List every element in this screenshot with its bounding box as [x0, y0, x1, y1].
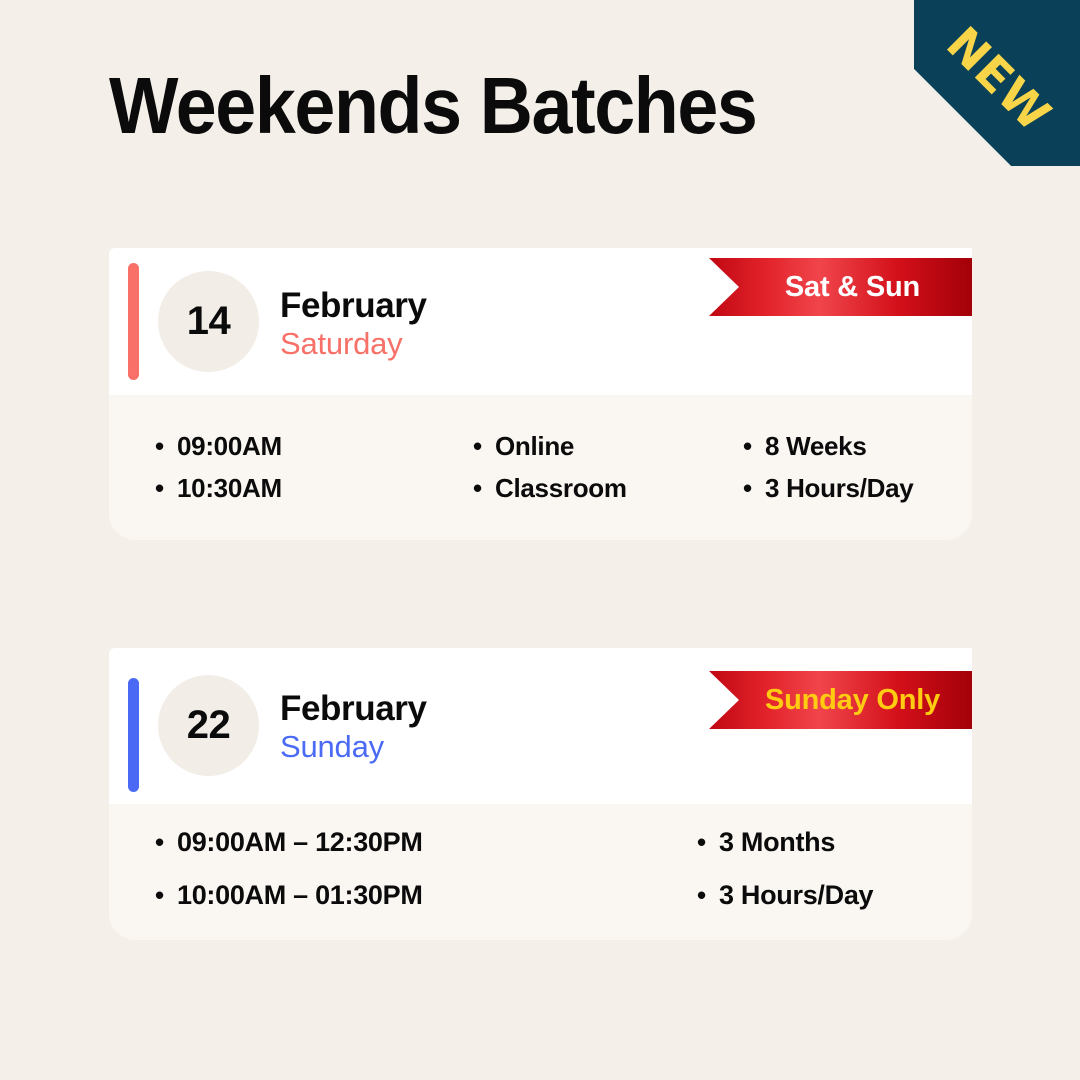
bullet-icon: •: [697, 882, 719, 908]
list-item: • 10:30AM: [155, 475, 449, 501]
batch-card-2-ribbon: Sunday Only: [709, 671, 972, 729]
list-item: • 3 Hours/Day: [743, 475, 972, 501]
batch-card-1-accent-bar: [128, 263, 139, 380]
batch-card-2-date-circle: 22: [158, 675, 259, 776]
list-item-label: 3 Months: [719, 829, 835, 856]
bullet-icon: •: [155, 433, 177, 459]
bullet-icon: •: [743, 433, 765, 459]
batch-card-2-details: • 09:00AM – 12:30PM • 10:00AM – 01:30PM …: [109, 804, 972, 940]
list-item-label: 10:00AM – 01:30PM: [177, 882, 423, 909]
list-item-label: Classroom: [495, 475, 627, 501]
batch-card-1-weekday: Saturday: [280, 326, 427, 362]
batch-card-1-month: February: [280, 286, 427, 326]
list-item: • 3 Hours/Day: [697, 882, 972, 909]
list-item: • Classroom: [473, 475, 719, 501]
batch-card-2-ribbon-label: Sunday Only: [741, 684, 940, 717]
list-item: • 3 Months: [697, 829, 972, 856]
batch-card-2-weekday: Sunday: [280, 729, 427, 765]
batch-card-2[interactable]: 22 February Sunday Sunday Only • 09:00AM…: [109, 648, 972, 940]
list-item-label: 09:00AM – 12:30PM: [177, 829, 423, 856]
list-item: • 09:00AM – 12:30PM: [155, 829, 679, 856]
batch-card-1-date-text: February Saturday: [280, 286, 427, 362]
bullet-icon: •: [155, 475, 177, 501]
bullet-icon: •: [743, 475, 765, 501]
new-corner-badge: NEW: [914, 0, 1080, 166]
list-item: • 8 Weeks: [743, 433, 972, 459]
list-item: • 10:00AM – 01:30PM: [155, 882, 679, 909]
list-item: • Online: [473, 433, 719, 459]
bullet-icon: •: [155, 829, 177, 855]
batch-card-2-date-number: 22: [187, 703, 231, 748]
batch-card-2-detail-column-2: • 3 Months • 3 Hours/Day: [679, 828, 972, 910]
list-item-label: Online: [495, 433, 574, 459]
batch-card-1-detail-column-2: • Online • Classroom: [449, 423, 719, 510]
batch-card-1-details: • 09:00AM • 10:30AM • Online • Classroom…: [109, 395, 972, 540]
batch-card-2-header: 22 February Sunday Sunday Only: [109, 648, 972, 804]
bullet-icon: •: [473, 475, 495, 501]
batch-card-1-detail-column-1: • 09:00AM • 10:30AM: [109, 423, 449, 510]
list-item: • 09:00AM: [155, 433, 449, 459]
list-item-label: 3 Hours/Day: [719, 882, 873, 909]
list-item-label: 8 Weeks: [765, 433, 867, 459]
batch-card-1-header: 14 February Saturday Sat & Sun: [109, 248, 972, 395]
batch-card-1-ribbon: Sat & Sun: [709, 258, 972, 316]
list-item-label: 10:30AM: [177, 475, 282, 501]
bullet-icon: •: [697, 829, 719, 855]
batch-card-2-date-text: February Sunday: [280, 689, 427, 765]
list-item-label: 3 Hours/Day: [765, 475, 913, 501]
page-title: Weekends Batches: [109, 60, 756, 152]
batch-card-1-ribbon-label: Sat & Sun: [761, 271, 920, 304]
bullet-icon: •: [473, 433, 495, 459]
batch-card-2-month: February: [280, 689, 427, 729]
batch-card-1-date-number: 14: [187, 299, 231, 344]
batch-card-2-detail-column-1: • 09:00AM – 12:30PM • 10:00AM – 01:30PM: [109, 828, 679, 910]
batch-card-1[interactable]: 14 February Saturday Sat & Sun • 09:00AM…: [109, 248, 972, 540]
bullet-icon: •: [155, 882, 177, 908]
batch-card-2-accent-bar: [128, 678, 139, 792]
batch-card-1-detail-column-3: • 8 Weeks • 3 Hours/Day: [719, 423, 972, 510]
list-item-label: 09:00AM: [177, 433, 282, 459]
batch-card-1-date-circle: 14: [158, 271, 259, 372]
